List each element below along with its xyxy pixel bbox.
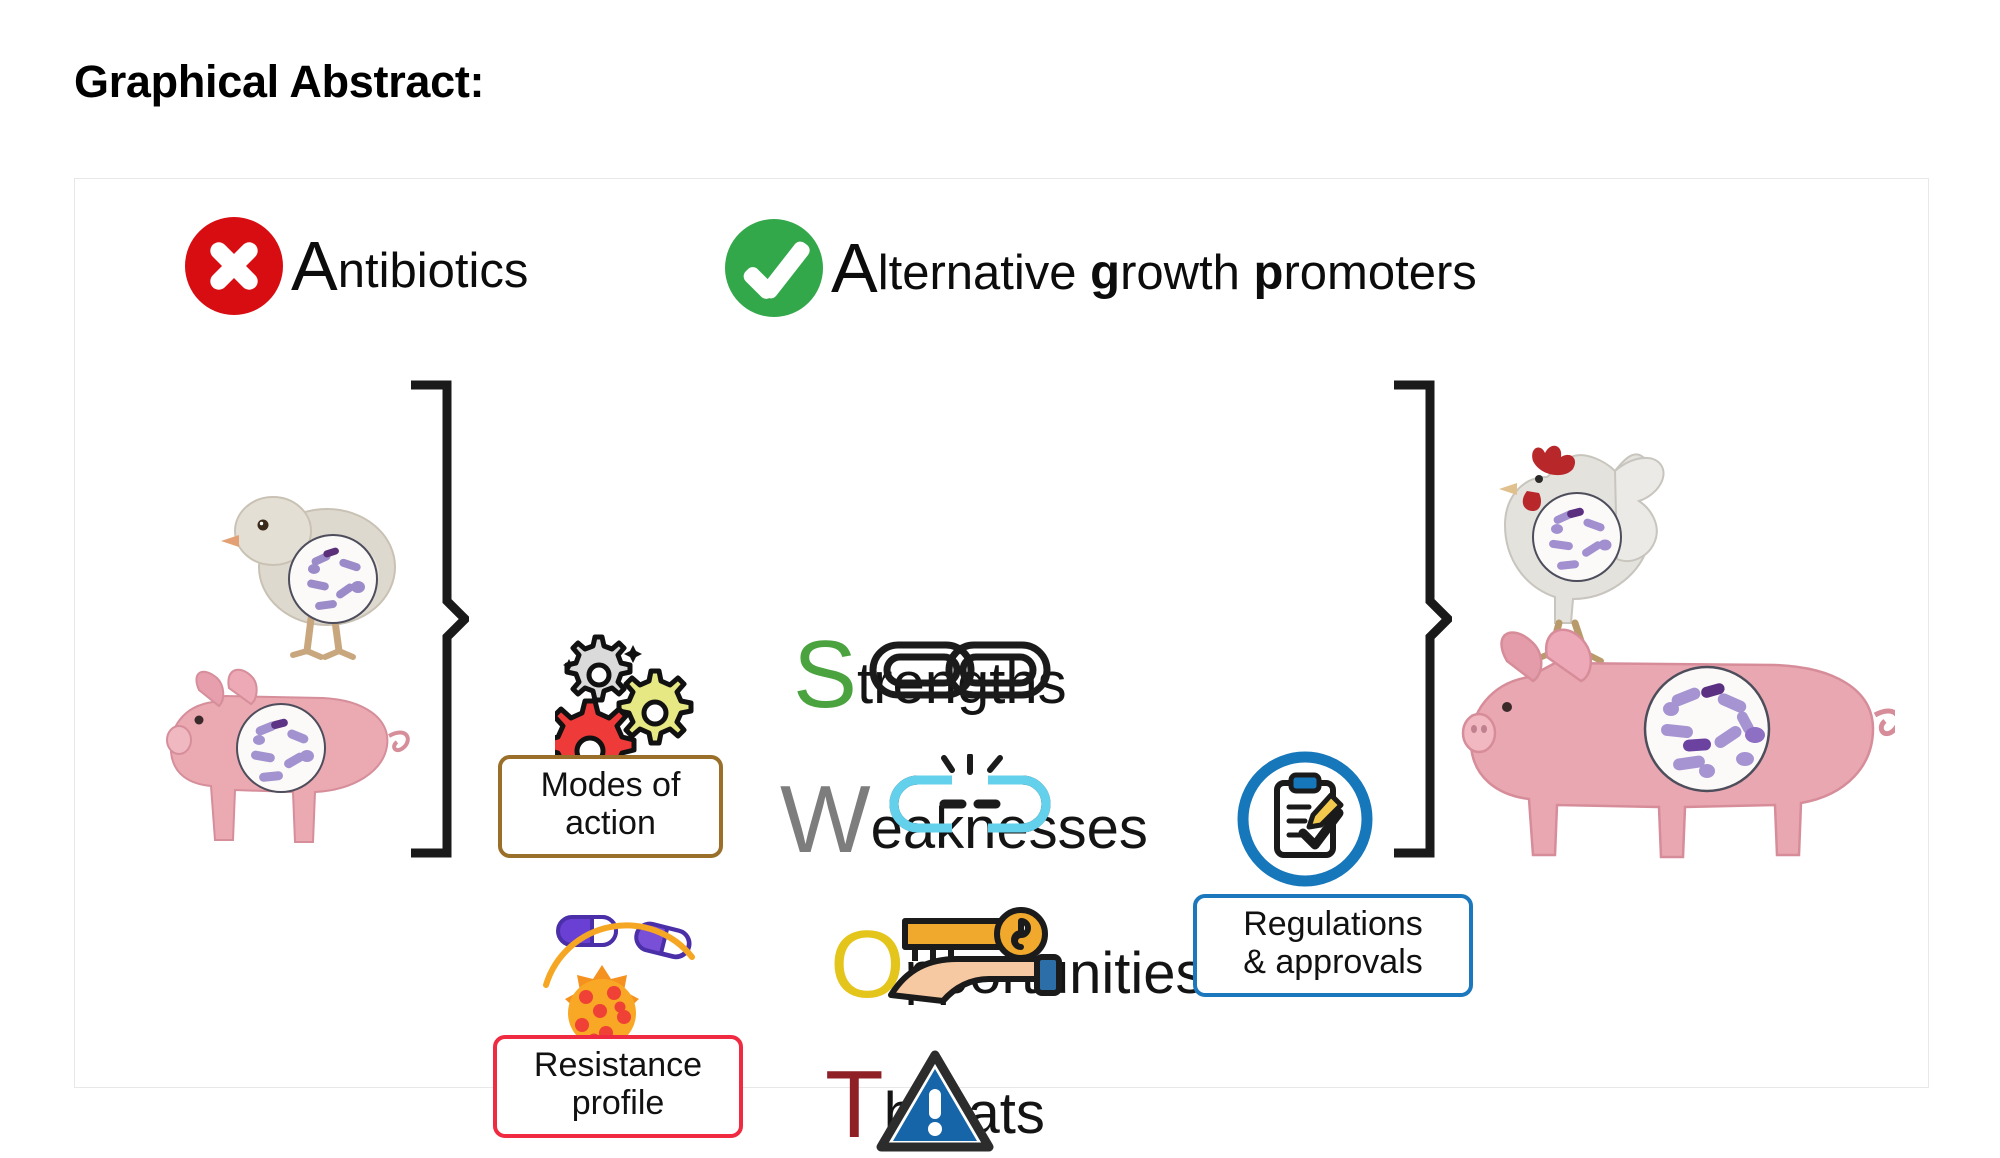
bacteria-magnifier-icon xyxy=(1533,493,1621,581)
resistance-profile-box[interactable]: Resistance profile xyxy=(493,1035,743,1138)
header-alternatives-rest-3: romoters xyxy=(1283,246,1476,300)
header-alternatives-bold-p: p xyxy=(1254,246,1284,300)
regulations-line-1: Regulations xyxy=(1209,905,1457,943)
header-antibiotics-cap: A xyxy=(291,227,338,305)
modes-of-action-box[interactable]: Modes of action xyxy=(498,755,723,858)
clipboard-check-icon xyxy=(1235,749,1375,889)
key-in-hand-icon xyxy=(885,897,1065,1007)
header-alternatives-cap: A xyxy=(831,229,878,307)
header-alternatives-label: Alternative growth promoters xyxy=(831,233,1477,303)
header-alternative-growth-promoters: Alternative growth promoters xyxy=(725,219,1477,317)
red-x-circle-icon xyxy=(185,217,283,315)
right-bracket xyxy=(1390,379,1452,859)
header-antibiotics-label: Antibiotics xyxy=(291,231,528,301)
swot-letter-w: W xyxy=(780,779,871,861)
page-title: Graphical Abstract: xyxy=(74,56,484,108)
resistance-profile-line-2: profile xyxy=(509,1084,727,1122)
broken-chain-icon xyxy=(880,754,1070,842)
bacteria-magnifier-icon xyxy=(289,535,377,623)
modes-of-action-line-2: action xyxy=(514,804,707,842)
header-antibiotics-rest: ntibiotics xyxy=(338,244,529,298)
header-alternatives-rest-2: rowth xyxy=(1120,246,1253,300)
chain-link-icon xyxy=(865,631,1055,709)
header-alternatives-bold-g: g xyxy=(1090,246,1120,300)
regulations-approvals-box[interactable]: Regulations & approvals xyxy=(1193,894,1473,997)
bacteria-magnifier-icon xyxy=(237,704,325,792)
header-antibiotics: Antibiotics xyxy=(185,217,528,315)
resistance-profile-line-1: Resistance xyxy=(509,1046,727,1084)
modes-of-action-line-1: Modes of xyxy=(514,766,707,804)
regulations-line-2: & approvals xyxy=(1209,943,1457,981)
bacteria-magnifier-icon xyxy=(1645,667,1769,791)
header-alternatives-rest-1: lternative xyxy=(878,246,1090,300)
pig-illustration xyxy=(1445,599,1895,879)
swot-letter-s: S xyxy=(793,634,857,716)
graphical-abstract-figure: Antibiotics Alternative growth promoters xyxy=(74,178,1929,1088)
warning-triangle-icon xyxy=(875,1049,995,1157)
piglet-illustration xyxy=(155,644,445,874)
green-check-circle-icon xyxy=(725,219,823,317)
